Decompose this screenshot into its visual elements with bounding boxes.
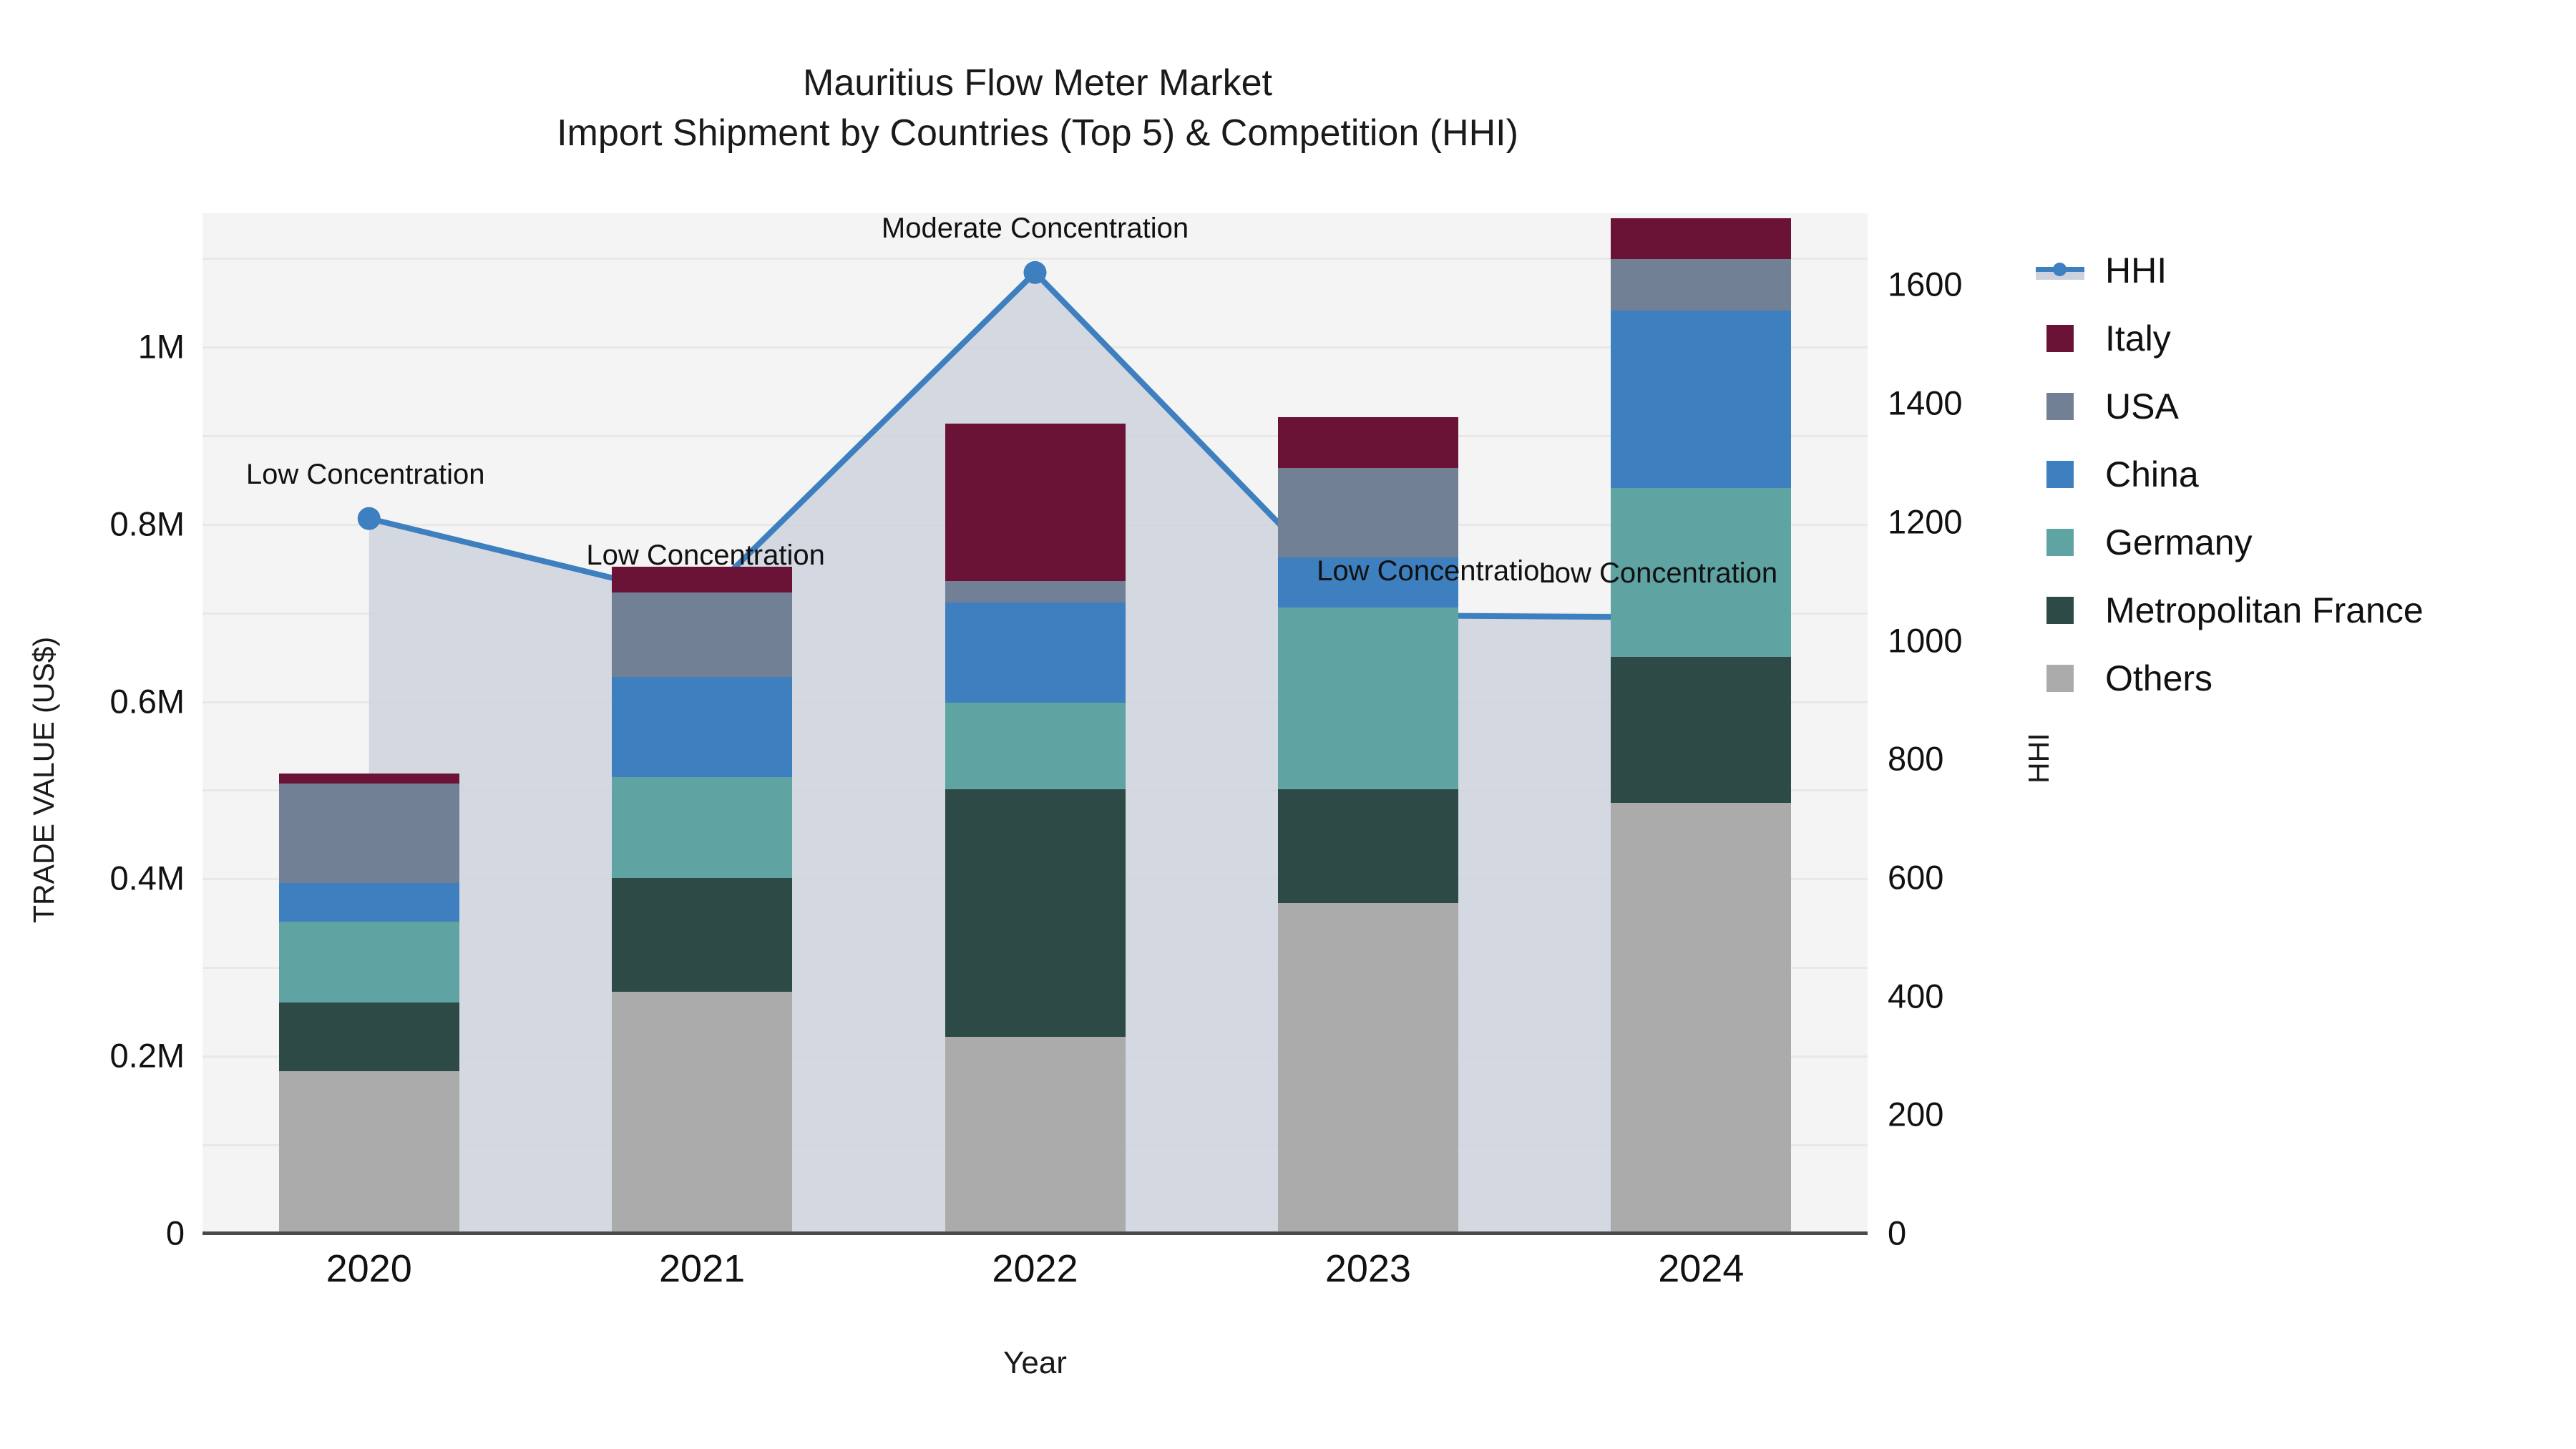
legend-swatch-icon <box>2046 529 2074 556</box>
y-axis-left-tick: 1M <box>6 326 185 366</box>
legend-item-others[interactable]: Others <box>2036 644 2551 712</box>
y-axis-left-label: TRADE VALUE (US$) <box>27 637 61 923</box>
bar-segment-usa-2020[interactable] <box>279 784 459 883</box>
chart-root: Mauritius Flow Meter Market Import Shipm… <box>0 0 2576 1449</box>
hhi-line-icon <box>2036 257 2084 284</box>
legend-item-label: Germany <box>2105 522 2253 563</box>
bar-segment-germany-2020[interactable] <box>279 922 459 1002</box>
y-axis-right-tick: 1600 <box>1888 265 2052 304</box>
annotation-2022: Moderate Concentration <box>882 213 1189 245</box>
bar-segment-china-2021[interactable] <box>612 677 792 777</box>
y-axis-right-tick: 400 <box>1888 976 2052 1015</box>
bar-segment-others-2021[interactable] <box>612 992 792 1233</box>
y-axis-right-tick: 600 <box>1888 857 2052 897</box>
x-axis-tick-2021: 2021 <box>559 1246 845 1291</box>
chart-title: Mauritius Flow Meter Market Import Shipm… <box>0 59 2075 158</box>
bar-segment-china-2024[interactable] <box>1611 311 1791 488</box>
x-axis-tick-2022: 2022 <box>892 1246 1179 1291</box>
bar-segment-china-2022[interactable] <box>945 602 1126 703</box>
bar-segment-metropolitan-france-2024[interactable] <box>1611 657 1791 803</box>
legend-swatch-icon <box>2046 597 2074 624</box>
annotation-2023: Low Concentration <box>1317 555 1556 587</box>
legend-item-italy[interactable]: Italy <box>2036 304 2551 372</box>
x-axis-tick-2024: 2024 <box>1558 1246 1844 1291</box>
annotation-2020: Low Concentration <box>246 459 485 491</box>
legend-item-usa[interactable]: USA <box>2036 372 2551 440</box>
chart-title-line-2: Import Shipment by Countries (Top 5) & C… <box>0 109 2075 159</box>
x-axis-label: Year <box>203 1345 1868 1381</box>
y-axis-right-tick: 0 <box>1888 1214 2052 1253</box>
legend-item-label: China <box>2105 454 2199 495</box>
bar-segment-germany-2021[interactable] <box>612 777 792 878</box>
legend-item-label: Metropolitan France <box>2105 590 2424 631</box>
bar-segment-usa-2024[interactable] <box>1611 259 1791 311</box>
bar-segment-metropolitan-france-2021[interactable] <box>612 878 792 992</box>
bar-segment-others-2022[interactable] <box>945 1037 1126 1233</box>
bar-segment-germany-2023[interactable] <box>1278 608 1458 789</box>
x-axis-line <box>203 1231 1868 1235</box>
bar-segment-metropolitan-france-2023[interactable] <box>1278 789 1458 903</box>
legend-swatch-icon <box>2046 393 2074 420</box>
y-axis-right-tick: 200 <box>1888 1095 2052 1134</box>
bar-segment-others-2024[interactable] <box>1611 803 1791 1233</box>
legend-item-label: HHI <box>2105 250 2167 291</box>
y-axis-right-tick: 1200 <box>1888 502 2052 541</box>
legend-item-label: Italy <box>2105 318 2171 359</box>
bar-segment-italy-2022[interactable] <box>945 424 1126 582</box>
bar-segment-usa-2023[interactable] <box>1278 468 1458 557</box>
legend-item-label: Others <box>2105 658 2212 699</box>
bar-segment-italy-2023[interactable] <box>1278 417 1458 468</box>
bar-segment-others-2023[interactable] <box>1278 903 1458 1233</box>
bar-segment-italy-2024[interactable] <box>1611 218 1791 259</box>
bar-segment-germany-2022[interactable] <box>945 703 1126 789</box>
y-axis-left-tick: 0.2M <box>6 1036 185 1075</box>
bar-segment-metropolitan-france-2022[interactable] <box>945 789 1126 1037</box>
legend-item-germany[interactable]: Germany <box>2036 508 2551 576</box>
legend-item-china[interactable]: China <box>2036 440 2551 508</box>
legend-item-label: USA <box>2105 386 2179 427</box>
bar-segment-metropolitan-france-2020[interactable] <box>279 1002 459 1072</box>
bar-segment-usa-2021[interactable] <box>612 592 792 677</box>
legend-swatch-icon <box>2046 325 2074 352</box>
bar-segment-china-2020[interactable] <box>279 883 459 922</box>
x-axis-tick-2023: 2023 <box>1225 1246 1511 1291</box>
bar-segment-others-2020[interactable] <box>279 1071 459 1233</box>
hhi-marker-2022[interactable] <box>1024 261 1047 284</box>
legend-swatch-icon <box>2046 461 2074 488</box>
y-axis-right-label: HHI <box>2022 733 2056 784</box>
hhi-marker-2020[interactable] <box>358 507 381 530</box>
y-axis-right-tick: 1400 <box>1888 384 2052 423</box>
annotation-2021: Low Concentration <box>586 540 825 572</box>
legend: HHIItalyUSAChinaGermanyMetropolitan Fran… <box>2036 236 2551 712</box>
bar-segment-italy-2020[interactable] <box>279 774 459 784</box>
legend-swatch-icon <box>2046 665 2074 692</box>
x-axis-tick-2020: 2020 <box>226 1246 512 1291</box>
y-axis-right-ticks: 02004006008001000120014001600 <box>1888 0 2102 1449</box>
legend-item-metropolitan-france[interactable]: Metropolitan France <box>2036 576 2551 644</box>
y-axis-left-tick: 0 <box>6 1214 185 1253</box>
y-axis-right-tick: 1000 <box>1888 620 2052 660</box>
legend-item-hhi[interactable]: HHI <box>2036 236 2551 304</box>
bar-segment-usa-2022[interactable] <box>945 581 1126 602</box>
chart-title-line-1: Mauritius Flow Meter Market <box>0 59 2075 109</box>
y-axis-left-tick: 0.8M <box>6 504 185 543</box>
annotation-2024: Low Concentration <box>1539 557 1778 590</box>
